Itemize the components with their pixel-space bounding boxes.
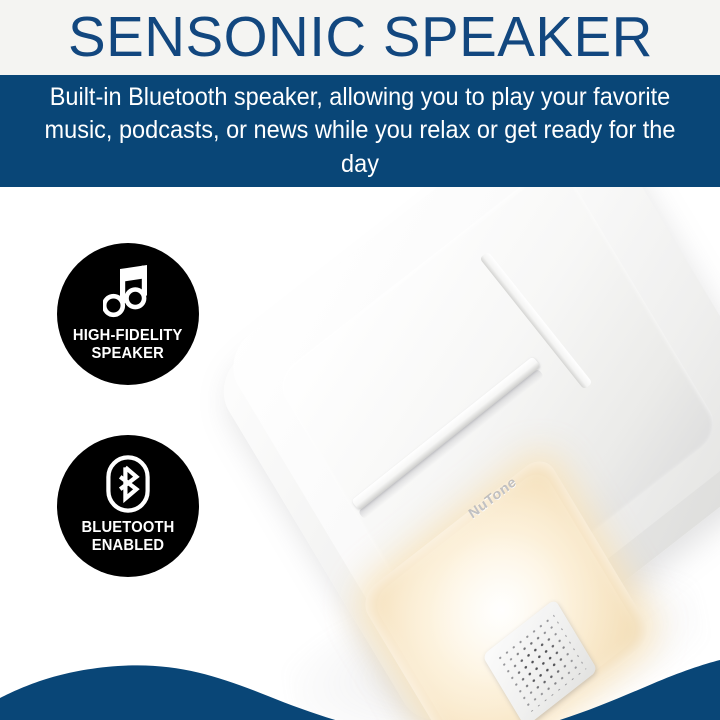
subtitle-text: Built-in Bluetooth speaker, allowing you… xyxy=(36,81,685,181)
badge-bluetooth-enabled: BLUETOOTH ENABLED xyxy=(57,435,199,577)
badge-label-high-fidelity: HIGH-FIDELITY SPEAKER xyxy=(73,327,183,364)
promo-banner: SENSONIC SPEAKER Built-in Bluetooth spea… xyxy=(0,0,720,720)
bluetooth-icon xyxy=(100,455,156,513)
subtitle-band: Built-in Bluetooth speaker, allowing you… xyxy=(0,75,720,187)
page-title: SENSONIC SPEAKER xyxy=(68,9,653,66)
product-photo-area: NuTone HIGH-FIDELITY SPE xyxy=(0,187,720,720)
music-note-icon xyxy=(100,263,156,321)
badge-label-bluetooth: BLUETOOTH ENABLED xyxy=(81,519,174,556)
title-band: SENSONIC SPEAKER xyxy=(0,0,720,75)
badge-high-fidelity-speaker: HIGH-FIDELITY SPEAKER xyxy=(57,243,199,385)
